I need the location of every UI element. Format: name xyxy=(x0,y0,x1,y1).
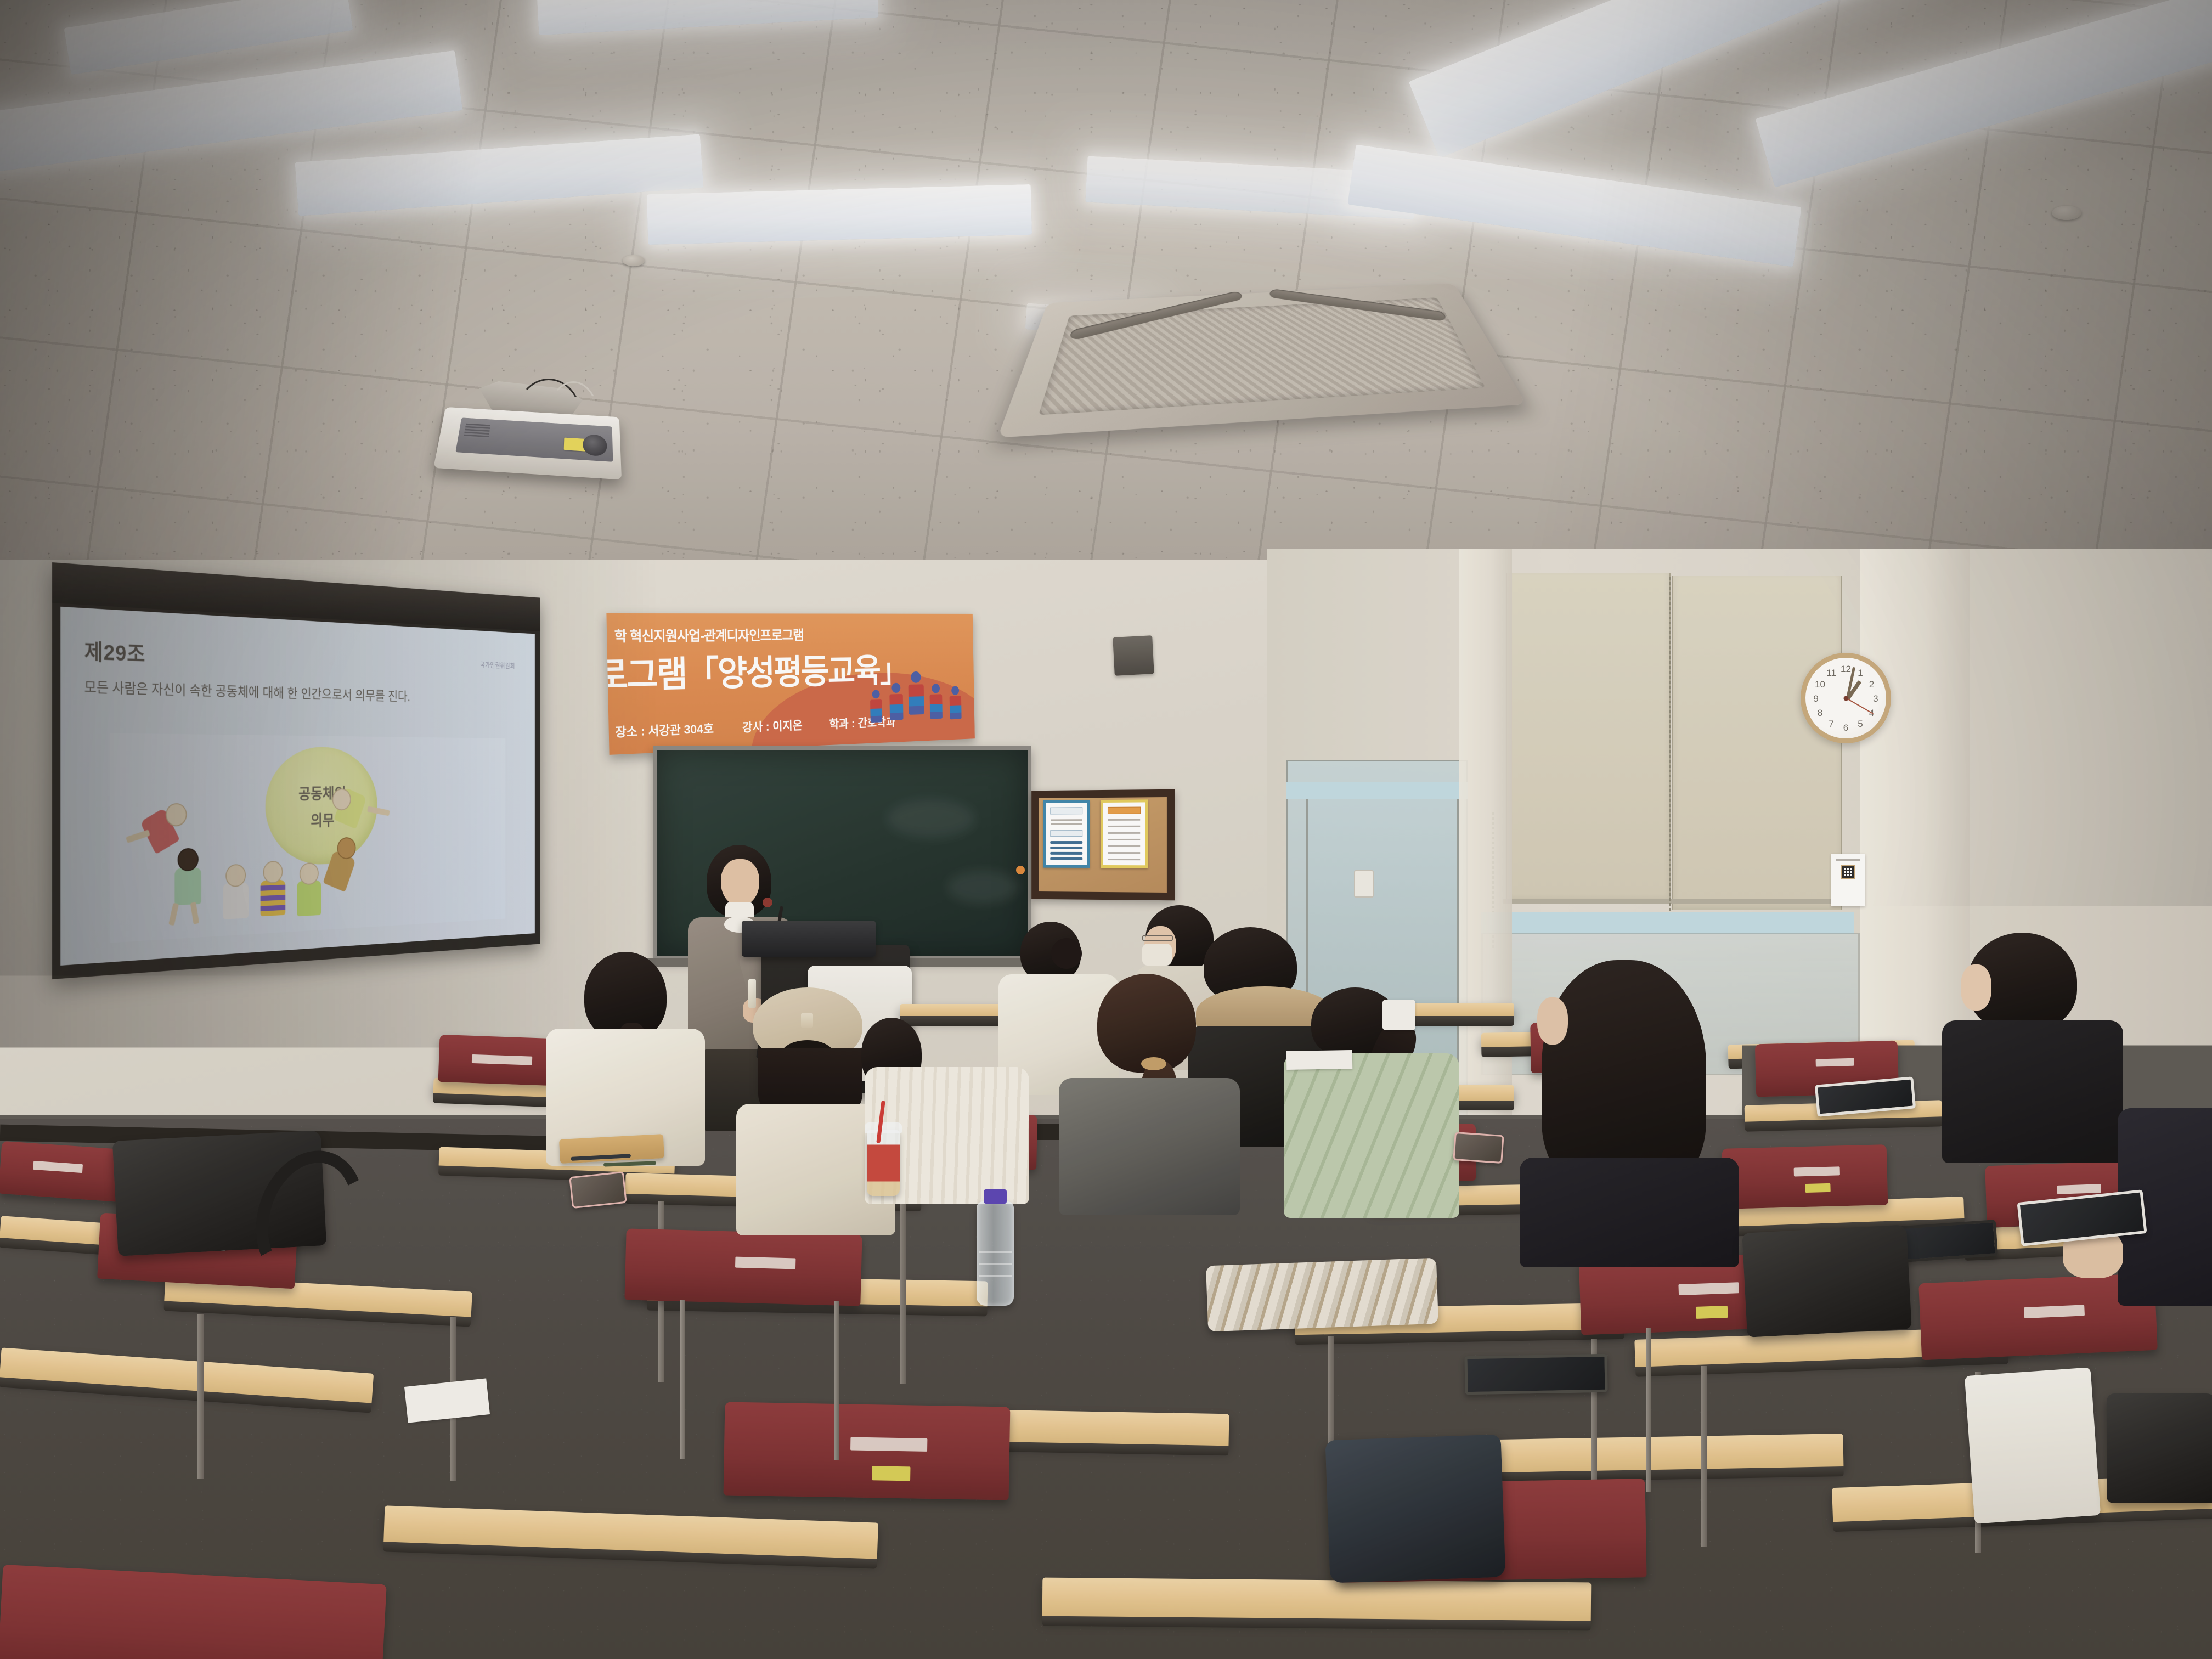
banner-figure-icon xyxy=(908,672,924,715)
poster-list-bar xyxy=(1050,857,1082,860)
poster-text-line xyxy=(1108,852,1140,854)
tablet[interactable] xyxy=(1464,1354,1607,1395)
clock-number: 2 xyxy=(1869,679,1874,690)
clock-number: 11 xyxy=(1826,668,1836,679)
poster-text-line xyxy=(1108,859,1140,860)
clock-number: 7 xyxy=(1829,719,1833,730)
classroom-photo: 12 1 2 3 4 5 6 7 8 9 10 11 제29조 모든 사람은 자… xyxy=(0,0,2212,1659)
poster-title-box xyxy=(1050,807,1082,814)
desk-leg xyxy=(900,1203,906,1384)
clock-number: 9 xyxy=(1813,693,1818,704)
student-white-fleece-ponytail xyxy=(540,952,705,1160)
poster-subtitle-box xyxy=(1050,830,1082,837)
clock-number: 10 xyxy=(1815,679,1825,690)
poster-title-box xyxy=(1108,807,1141,814)
backpack[interactable] xyxy=(1325,1434,1506,1583)
face-mask xyxy=(1142,944,1172,966)
poster-blue xyxy=(1043,800,1090,868)
student-hair xyxy=(1542,960,1706,1190)
bottle-rib xyxy=(979,1275,1012,1277)
desk-leg xyxy=(1701,1366,1707,1547)
banner-figure-icon xyxy=(949,686,961,719)
qr-code-icon xyxy=(1841,865,1855,879)
black-jacket-on-chair[interactable] xyxy=(1742,1224,1912,1337)
glasses-icon xyxy=(1142,935,1173,941)
bulletin-board xyxy=(1031,789,1175,901)
student-gray-tweed-ponytail xyxy=(1059,974,1245,1210)
banner-figure-icon xyxy=(889,683,904,720)
chalk-smudge xyxy=(887,799,975,838)
light-switch[interactable] xyxy=(1354,870,1374,898)
wall-accent-strip xyxy=(1286,782,1468,799)
poster-list-bar xyxy=(1050,847,1082,849)
bottle-rib xyxy=(979,1263,1012,1265)
chair-leg xyxy=(834,1301,839,1460)
wall-accent-band xyxy=(1481,912,1854,934)
hair-tie xyxy=(1141,1057,1166,1070)
ceiling xyxy=(0,0,2212,614)
poster-list-bar xyxy=(1050,852,1082,855)
tote-bag[interactable] xyxy=(1965,1367,2101,1523)
clock-number: 12 xyxy=(1841,664,1851,675)
presenter-face xyxy=(721,859,759,906)
backpack-stripe xyxy=(425,1260,518,1276)
poster-text-line xyxy=(1108,826,1140,827)
banner-lecturer: 강사 : 이지온 xyxy=(742,715,803,735)
iced-drink-cup[interactable] xyxy=(867,1130,900,1196)
black-bag[interactable] xyxy=(2107,1393,2212,1503)
poster-text-line xyxy=(1051,823,1082,825)
chair-leg xyxy=(680,1300,685,1459)
ceiling-shading xyxy=(0,0,2212,614)
banner-figure-group xyxy=(868,679,963,723)
clock-center-pin xyxy=(1843,696,1848,701)
student-back-row-black-coat xyxy=(1942,933,2123,1163)
smartphone[interactable] xyxy=(1453,1132,1504,1164)
clock-number: 8 xyxy=(1818,708,1822,719)
backpack[interactable] xyxy=(400,1160,549,1381)
clock-number: 1 xyxy=(1858,668,1863,679)
desk-leg xyxy=(198,1314,204,1479)
paper-cup xyxy=(1383,1000,1415,1030)
bag-charm xyxy=(413,1274,424,1293)
podium-monitor xyxy=(742,921,876,957)
chair[interactable] xyxy=(624,1228,862,1306)
bottle-rib xyxy=(979,1251,1012,1253)
banner-figure-icon xyxy=(870,690,883,723)
student-face-profile xyxy=(1537,997,1568,1045)
desk xyxy=(1042,1578,1592,1623)
banner-figure-icon xyxy=(929,684,943,719)
blind-rail xyxy=(1503,899,1843,904)
student-coat xyxy=(1520,1158,1739,1267)
plaid-scarf[interactable] xyxy=(1206,1258,1438,1332)
qr-code-notice xyxy=(1831,854,1865,906)
poster-text-line xyxy=(1108,839,1140,840)
poster-text-line xyxy=(1108,819,1140,821)
student-beige-cap xyxy=(724,988,889,1207)
wall-speaker xyxy=(1113,635,1154,676)
chair[interactable] xyxy=(724,1402,1011,1500)
student-face-profile xyxy=(1961,964,1991,1011)
chair-leg xyxy=(1646,1328,1651,1492)
clock-number: 3 xyxy=(1873,693,1878,704)
smartphone[interactable] xyxy=(569,1171,627,1209)
chalkboard-magnet xyxy=(1016,866,1025,874)
bottle-cap[interactable] xyxy=(984,1189,1007,1204)
poster-text-line xyxy=(1108,832,1140,834)
cup-lid xyxy=(865,1122,902,1133)
notebook[interactable] xyxy=(1286,1050,1353,1070)
student-jacket xyxy=(1059,1078,1240,1215)
chalk-smudge xyxy=(947,871,1019,904)
cap-logo-icon xyxy=(801,1013,813,1028)
water-bottle[interactable] xyxy=(977,1201,1014,1306)
microphone-head xyxy=(763,898,772,907)
poster-text-line xyxy=(1108,845,1140,847)
event-banner: 학 혁신지원사업-관계디자인프로그램 로그램「양성평등교육」 장소 : 서강관 … xyxy=(606,613,974,755)
student-coat xyxy=(1942,1020,2123,1163)
wall-clock: 12 1 2 3 4 5 6 7 8 9 10 11 xyxy=(1801,653,1891,743)
window-blind[interactable] xyxy=(1672,576,1842,910)
blind-chain[interactable] xyxy=(1669,577,1671,917)
poster-text-line xyxy=(1051,819,1082,821)
window-blind[interactable] xyxy=(1506,573,1671,902)
student-white-cable-knit xyxy=(878,1012,1042,1204)
poster-yellow xyxy=(1101,799,1148,868)
hair-bun xyxy=(1051,938,1082,969)
clock-number: 6 xyxy=(1843,723,1848,733)
clock-number: 5 xyxy=(1858,719,1863,730)
student-quilted-jacket xyxy=(1284,1053,1459,1218)
notice-heading-line xyxy=(1836,859,1860,861)
clock-second-hand xyxy=(1846,698,1873,714)
backpack-stripe xyxy=(416,1220,529,1243)
poster-list-bar xyxy=(1050,841,1082,844)
student-long-wavy-black xyxy=(1509,960,1750,1267)
student-sage-quilted xyxy=(1284,988,1459,1218)
